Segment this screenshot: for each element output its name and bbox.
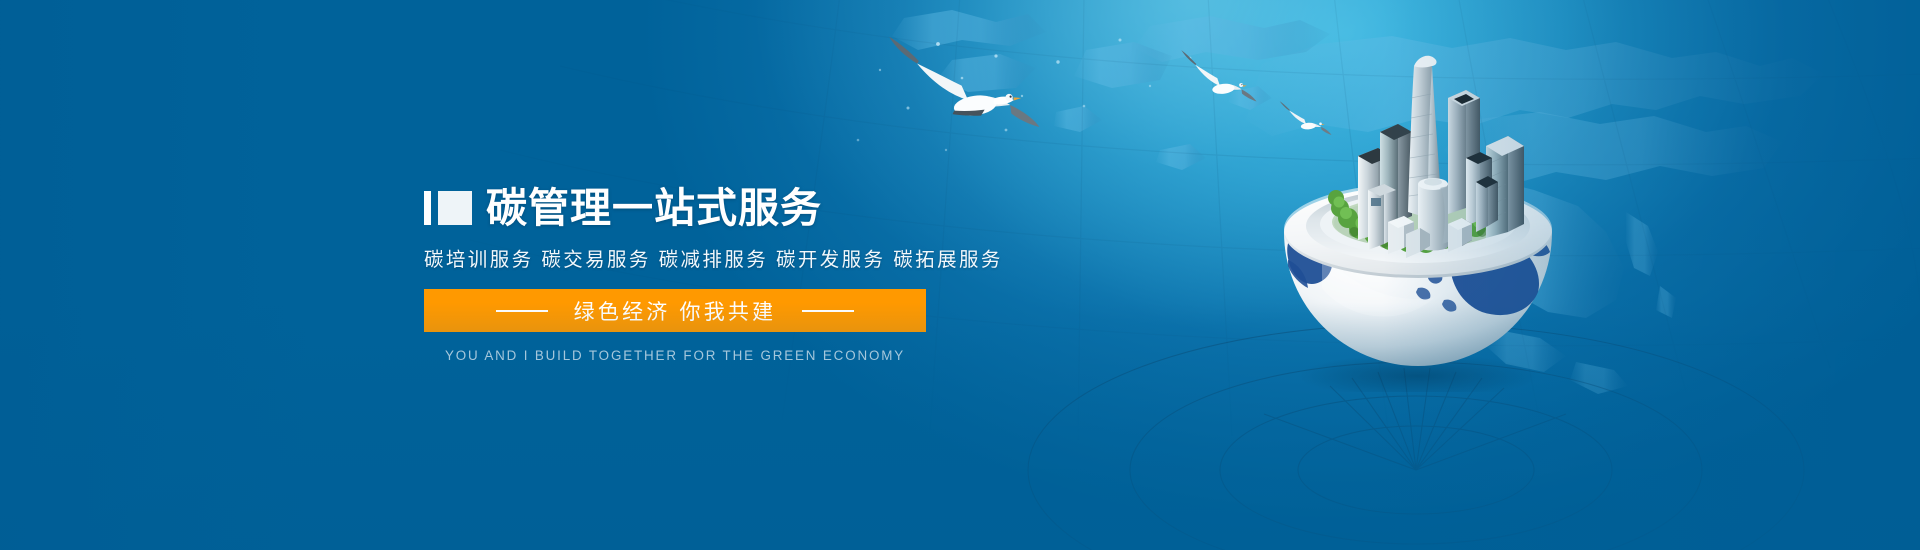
globe-city-illustration	[1262, 36, 1582, 392]
city-skyline	[1358, 56, 1524, 258]
slogan-text: 绿色经济 你我共建	[574, 296, 777, 326]
english-tagline: YOU AND I BUILD TOGETHER FOR THE GREEN E…	[424, 348, 926, 363]
logo-square-icon	[438, 191, 472, 225]
slogan-bar: 绿色经济 你我共建	[424, 289, 926, 332]
slogan-rule-left	[496, 310, 548, 312]
title-row: 碳管理一站式服务	[424, 184, 1024, 232]
brand-logo-mark	[424, 191, 472, 225]
slogan-rule-right	[802, 310, 854, 312]
page-title: 碳管理一站式服务	[486, 188, 822, 229]
service-list-subtitle: 碳培训服务 碳交易服务 碳减排服务 碳开发服务 碳拓展服务	[424, 243, 1024, 272]
carbon-management-banner: 碳管理一站式服务 碳培训服务 碳交易服务 碳减排服务 碳开发服务 碳拓展服务 绿…	[0, 0, 1920, 550]
banner-content: 碳管理一站式服务 碳培训服务 碳交易服务 碳减排服务 碳开发服务 碳拓展服务 绿…	[424, 184, 1024, 363]
logo-bar-icon	[424, 191, 431, 225]
earth-city-artwork	[1262, 36, 1582, 392]
